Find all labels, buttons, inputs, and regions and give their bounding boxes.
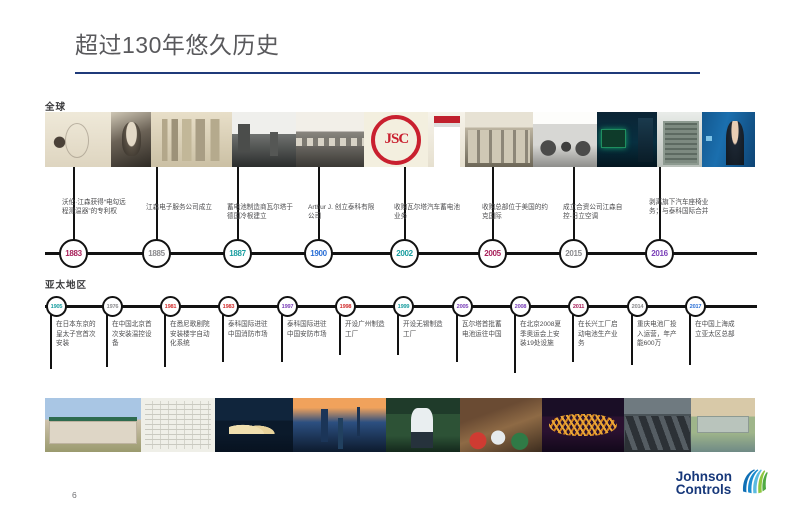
patent-drawing-photo — [45, 112, 111, 167]
apac-event-label-1999: 开设无锡制造工厂 — [403, 320, 447, 339]
apac-event-label-1998: 开设广州制造工厂 — [345, 320, 389, 339]
historic-building-photo — [151, 112, 231, 167]
apac-event-label-1983: 泰科国际进驻中国消防市场 — [228, 320, 272, 339]
global-event-label-1887: 蓄电池制造商瓦尔塔于德国冷根建立 — [227, 203, 295, 221]
global-year-node-1885[interactable]: 1885 — [142, 239, 171, 268]
apac-year-node-1983[interactable]: 1983 — [218, 296, 239, 317]
shanghai-campus-photo — [691, 398, 755, 452]
global-year-node-1900[interactable]: 1900 — [304, 239, 333, 268]
global-event-label-1900: Arthur J. 创立泰科有限公司 — [308, 203, 376, 221]
apac-event-label-2005: 瓦尔塔首批蓄电池运往中国 — [462, 320, 506, 339]
global-event-label-2002: 收购瓦尔塔汽车蓄电池业务 — [394, 203, 462, 221]
server-room-photo — [597, 112, 657, 167]
apac-year-node-1998[interactable]: 1998 — [335, 296, 356, 317]
section-header-apac: 亚太地区 — [45, 277, 87, 291]
battery-crates-photo — [465, 112, 532, 167]
logo-wordmark: Johnson Controls — [676, 470, 732, 496]
blueprint-document-photo — [141, 398, 216, 452]
children-group-photo — [460, 398, 542, 452]
apac-stem-2008 — [514, 307, 516, 373]
global-event-label-2016: 剥离旗下汽车座椅业务；与泰科国际合并 — [649, 198, 717, 216]
section-header-global: 全球 — [45, 99, 66, 113]
bw-workers-photo — [533, 112, 597, 167]
beijing-birds-nest-photo — [542, 398, 624, 452]
sydney-opera-house-photo — [215, 398, 293, 452]
japan-palace-photo — [45, 398, 141, 452]
global-year-node-2002[interactable]: 2002 — [390, 239, 419, 268]
global-year-node-2015[interactable]: 2015 — [559, 239, 588, 268]
apac-year-node-2008[interactable]: 2008 — [510, 296, 531, 317]
slide-canvas: 超过130年悠久历史 全球 JSC 沃伦·江森获得“电勾远程测温器”的专利权 江… — [0, 0, 800, 528]
apac-event-label-1997: 泰科国际进驻中国安防市场 — [287, 320, 331, 339]
jsc-emblem-icon: JSC — [371, 115, 421, 165]
apac-year-node-2017[interactable]: 2017 — [685, 296, 706, 317]
apac-year-node-1999[interactable]: 1999 — [393, 296, 414, 317]
global-year-node-2005[interactable]: 2005 — [478, 239, 507, 268]
kuala-lumpur-skyline-photo — [293, 398, 385, 452]
logo-line-2: Controls — [676, 483, 732, 496]
executive-speaker-photo — [702, 112, 755, 167]
apac-year-node-1997[interactable]: 1997 — [277, 296, 298, 317]
apac-event-label-1981: 在悉尼歌剧院安装楼宇自动化系统 — [170, 320, 214, 349]
globe-mark-icon — [738, 466, 772, 500]
global-year-node-1883[interactable]: 1883 — [59, 239, 88, 268]
global-year-node-2016[interactable]: 2016 — [645, 239, 674, 268]
newspaper-document-photo — [428, 112, 465, 167]
global-event-label-1885: 江森电子服务公司成立 — [146, 203, 214, 212]
warren-johnson-portrait-photo — [111, 112, 151, 167]
server-rack-shape — [638, 118, 654, 162]
apac-event-label-2017: 在中国上海成立亚太区总部 — [695, 320, 739, 339]
title-block: 超过130年悠久历史 — [75, 28, 715, 62]
apac-year-node-2011[interactable]: 2011 — [568, 296, 589, 317]
hvac-unit-photo — [657, 112, 702, 167]
assembly-line-photo — [296, 112, 365, 167]
page-title: 超过130年悠久历史 — [75, 28, 715, 62]
factory-worker-photo — [386, 398, 461, 452]
apac-year-node-1981[interactable]: 1981 — [160, 296, 181, 317]
apac-year-node-2005[interactable]: 2005 — [452, 296, 473, 317]
apac-event-label-1976: 在中国北京首次安装温控设备 — [112, 320, 156, 349]
jsc-logo-photo: JSC — [364, 112, 428, 167]
apac-event-label-2008: 在北京2008夏季奥运会上安装19处设施 — [520, 320, 564, 349]
global-event-label-2005: 收购总部位于美国的约克国际 — [482, 203, 550, 221]
apac-stem-1905 — [50, 307, 52, 369]
podium-screen-shape — [706, 136, 712, 140]
factory-smokestacks-photo — [232, 112, 296, 167]
battery-production-photo — [624, 398, 691, 452]
apac-year-node-1976[interactable]: 1976 — [102, 296, 123, 317]
apac-year-node-2014[interactable]: 2014 — [627, 296, 648, 317]
global-event-label-1883: 沃伦·江森获得“电勾远程测温器”的专利权 — [62, 198, 130, 216]
johnson-controls-logo: Johnson Controls — [676, 466, 772, 500]
apac-event-label-1905: 在日本东京的皇太子宫首次安装 — [56, 320, 100, 349]
apac-event-label-2014: 重庆电池厂投入运营，年产能600万 — [637, 320, 681, 349]
global-year-node-1887[interactable]: 1887 — [223, 239, 252, 268]
apac-event-label-2011: 在长兴工厂启动电池生产业务 — [578, 320, 622, 349]
bottom-photo-strip — [45, 398, 755, 452]
page-number: 6 — [72, 490, 77, 500]
title-underline-rule — [75, 72, 700, 74]
apac-year-node-1905[interactable]: 1905 — [46, 296, 67, 317]
global-event-label-2015: 成立合资公司江森自控-日立空调 — [563, 203, 631, 221]
global-photo-strip: JSC — [45, 112, 755, 167]
